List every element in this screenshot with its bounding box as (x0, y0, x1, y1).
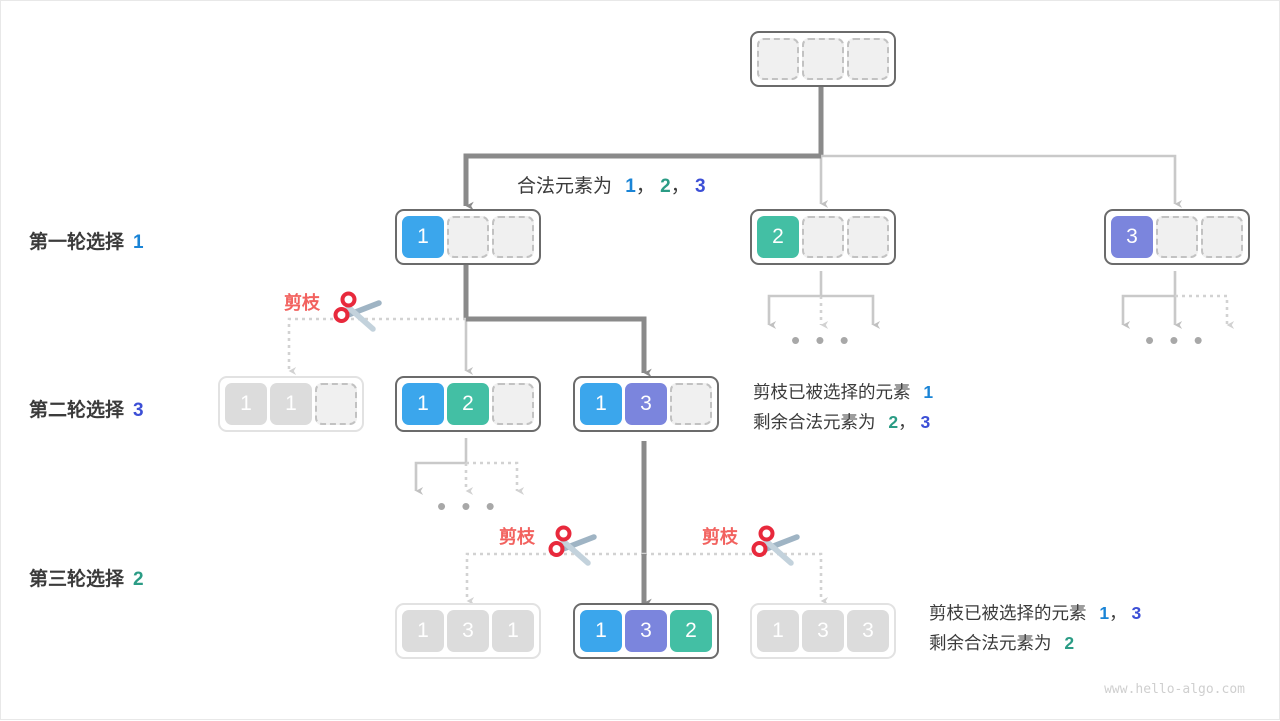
prune-note-level2-line2-value-2: 3 (920, 412, 930, 432)
legal-value-3: 3 (695, 176, 706, 197)
scissors-icon-3 (750, 523, 804, 571)
node-root (750, 31, 896, 87)
round-label-1: 第一轮选择1 (29, 227, 144, 254)
prune-note-level2-line1-prefix: 剪枝已被选择的元素 (753, 382, 911, 402)
prune-note-level2-line2: 剩余合法元素为 2， 3 (753, 407, 933, 437)
round-label-2: 第二轮选择3 (29, 395, 144, 422)
legal-elements-prefix: 合法元素为 (517, 176, 612, 197)
node-level2-11-pruned: 11 (218, 376, 364, 432)
prune-note-level2-line1-value-1: 1 (923, 382, 933, 402)
prune-note-level3-line2-prefix: 剩余合法元素为 (929, 633, 1052, 653)
prune-note-level3-line1-sep: ， (1109, 603, 1127, 623)
node-level2-11-pruned-cell-0: 1 (225, 383, 267, 425)
node-level1-1: 1 (395, 209, 541, 265)
prune-note-level3-line1-prefix: 剪枝已被选择的元素 (929, 603, 1087, 623)
node-level3-131-pruned-cell-1: 3 (447, 610, 489, 652)
node-root-cell-0 (757, 38, 799, 80)
prune-note-level3: 剪枝已被选择的元素 1， 3 剩余合法元素为 2 (929, 598, 1141, 658)
node-level3-132-cell-0: 1 (580, 610, 622, 652)
round-label-3-text: 第三轮选择 (29, 569, 124, 590)
prune-note-level3-line2: 剩余合法元素为 2 (929, 628, 1141, 658)
node-level1-3-cell-1 (1156, 216, 1198, 258)
legal-elements-note: 合法元素为 1， 2， 3 (517, 171, 706, 198)
legal-sep-1: ， (636, 176, 655, 197)
node-level1-2: 2 (750, 209, 896, 265)
round-label-2-value: 3 (133, 400, 144, 421)
node-level1-3-cell-2 (1201, 216, 1243, 258)
ellipsis-under-node-3: • • • (1145, 325, 1207, 356)
prune-note-level2-line1: 剪枝已被选择的元素 1 (753, 377, 933, 407)
node-level3-132-cell-1: 3 (625, 610, 667, 652)
node-level3-133-pruned-cell-1: 3 (802, 610, 844, 652)
node-level3-132-cell-2: 2 (670, 610, 712, 652)
prune-label-3: 剪枝 (702, 523, 738, 549)
node-level3-131-pruned-cell-2: 1 (492, 610, 534, 652)
node-root-cell-1 (802, 38, 844, 80)
node-level2-12: 12 (395, 376, 541, 432)
node-level1-1-cell-0: 1 (402, 216, 444, 258)
round-label-1-text: 第一轮选择 (29, 232, 124, 253)
prune-note-level2-line2-value-1: 2 (888, 412, 898, 432)
node-level3-133-pruned-cell-2: 3 (847, 610, 889, 652)
diagram-canvas: 1 2 3 11 12 13 131 132 133 第一轮选择1 第二轮选择3… (0, 0, 1280, 720)
legal-value-1: 1 (625, 176, 636, 197)
watermark: www.hello-algo.com (1104, 682, 1245, 697)
node-level2-13-cell-0: 1 (580, 383, 622, 425)
node-level2-11-pruned-cell-2 (315, 383, 357, 425)
prune-note-level2: 剪枝已被选择的元素 1 剩余合法元素为 2， 3 (753, 377, 933, 437)
scissors-icon-2 (547, 523, 601, 571)
prune-label-2: 剪枝 (499, 523, 535, 549)
node-level3-133-pruned-cell-0: 1 (757, 610, 799, 652)
node-level1-2-cell-2 (847, 216, 889, 258)
prune-note-level3-line1-value-2: 3 (1131, 603, 1141, 623)
node-level1-1-cell-2 (492, 216, 534, 258)
node-level1-2-cell-1 (802, 216, 844, 258)
node-level2-12-cell-1: 2 (447, 383, 489, 425)
round-label-2-text: 第二轮选择 (29, 400, 124, 421)
node-root-cell-2 (847, 38, 889, 80)
round-label-1-value: 1 (133, 232, 144, 253)
ellipsis-under-node-2: • • • (791, 325, 853, 356)
node-level2-13-cell-2 (670, 383, 712, 425)
prune-note-level3-line1: 剪枝已被选择的元素 1， 3 (929, 598, 1141, 628)
node-level3-131-pruned: 131 (395, 603, 541, 659)
prune-note-level3-line2-value-1: 2 (1064, 633, 1074, 653)
prune-note-level3-line1-value-1: 1 (1099, 603, 1109, 623)
node-level1-1-cell-1 (447, 216, 489, 258)
node-level3-131-pruned-cell-0: 1 (402, 610, 444, 652)
node-level2-12-cell-0: 1 (402, 383, 444, 425)
round-label-3: 第三轮选择2 (29, 564, 144, 591)
node-level2-13-cell-1: 3 (625, 383, 667, 425)
node-level2-13: 13 (573, 376, 719, 432)
node-level2-12-cell-2 (492, 383, 534, 425)
node-level1-2-cell-0: 2 (757, 216, 799, 258)
node-level2-11-pruned-cell-1: 1 (270, 383, 312, 425)
node-level3-133-pruned: 133 (750, 603, 896, 659)
prune-label-1: 剪枝 (284, 289, 320, 315)
prune-note-level2-line2-sep: ， (898, 412, 916, 432)
node-level1-3-cell-0: 3 (1111, 216, 1153, 258)
node-level1-3: 3 (1104, 209, 1250, 265)
legal-value-2: 2 (660, 176, 671, 197)
ellipsis-under-node-12: • • • (437, 491, 499, 522)
round-label-3-value: 2 (133, 569, 144, 590)
prune-note-level2-line2-prefix: 剩余合法元素为 (753, 412, 876, 432)
scissors-icon-1 (332, 289, 386, 337)
legal-sep-2: ， (671, 176, 690, 197)
node-level3-132: 132 (573, 603, 719, 659)
